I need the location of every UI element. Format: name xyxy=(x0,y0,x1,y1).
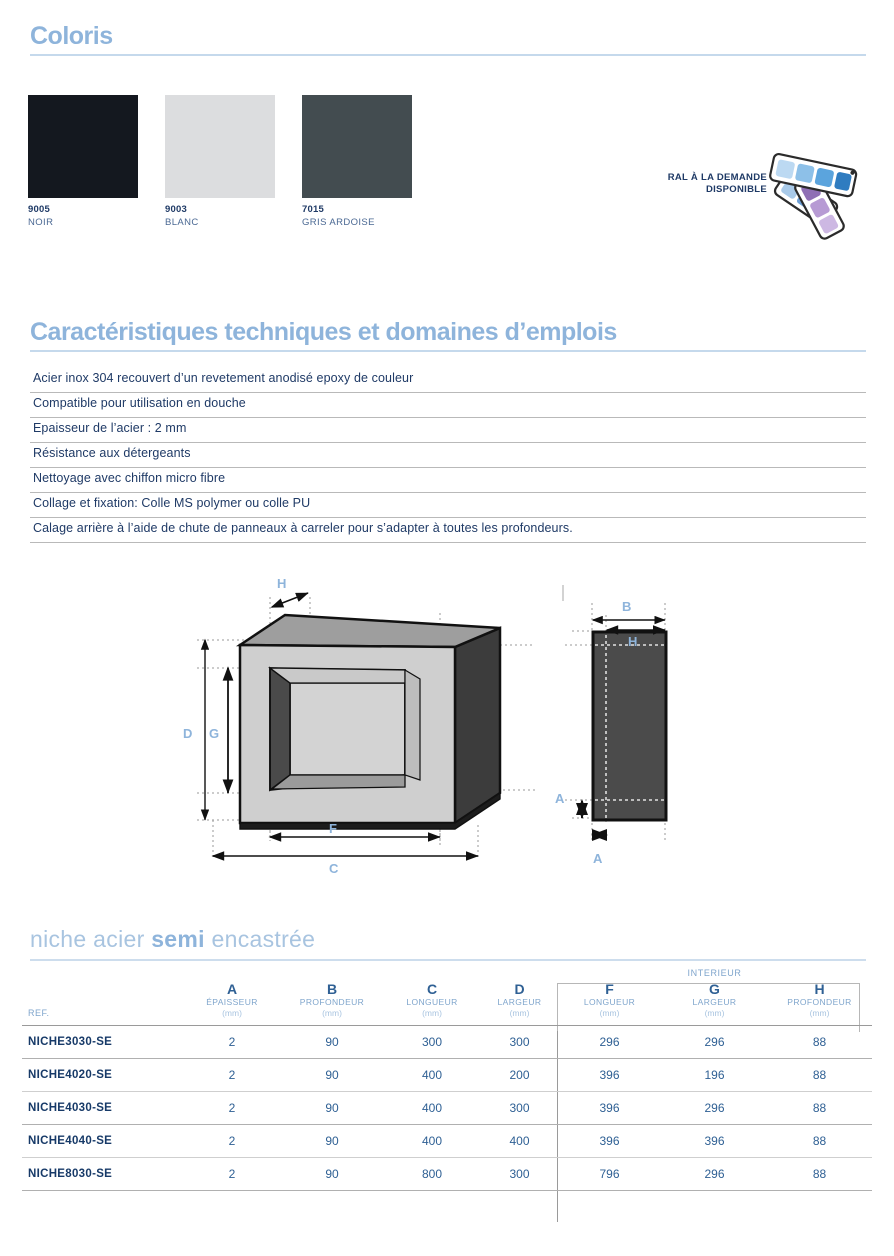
color-swatch-7015[interactable]: 7015 GRIS ARDOISE xyxy=(302,95,412,228)
cell-C: 400 xyxy=(382,1059,482,1092)
dim-line-H-iso xyxy=(272,593,308,607)
col-letter: H xyxy=(767,982,872,997)
dim-label-H-side: H xyxy=(628,634,637,649)
title-emphasis: semi xyxy=(151,926,205,952)
cell-D: 300 xyxy=(482,1158,557,1191)
table-header-row: REF. A ÉPAISSEUR (mm) B PROFONDEUR (mm) … xyxy=(22,982,872,1026)
column-header-A: A ÉPAISSEUR (mm) xyxy=(182,982,282,1026)
col-name: ÉPAISSEUR xyxy=(182,997,282,1008)
column-header-B: B PROFONDEUR (mm) xyxy=(282,982,382,1026)
col-letter: C xyxy=(382,982,482,997)
dim-label-H-iso: H xyxy=(277,576,286,591)
group-label-interieur: INTERIEUR xyxy=(557,968,872,982)
cell-B: 90 xyxy=(282,1125,382,1158)
list-item: Acier inox 304 recouvert d’un revetement… xyxy=(30,368,866,393)
cell-A: 2 xyxy=(182,1092,282,1125)
table-row[interactable]: NICHE4040-SE 2 90 400 400 396 396 88 xyxy=(22,1125,872,1158)
cell-G: 396 xyxy=(662,1125,767,1158)
cell-D: 300 xyxy=(482,1026,557,1059)
cell-G: 196 xyxy=(662,1059,767,1092)
cell-F: 296 xyxy=(557,1026,662,1059)
list-item: Résistance aux détergeants xyxy=(30,443,866,468)
caracteristiques-title: Caractéristiques techniques et domaines … xyxy=(30,318,866,347)
table-row[interactable]: NICHE4030-SE 2 90 400 300 396 296 88 xyxy=(22,1092,872,1125)
cell-H: 88 xyxy=(767,1125,872,1158)
col-unit: (mm) xyxy=(767,1008,872,1019)
dim-label-G: G xyxy=(209,726,219,741)
dim-label-A-left: A xyxy=(555,791,565,806)
cell-C: 400 xyxy=(382,1092,482,1125)
col-name: LONGUEUR xyxy=(557,997,662,1008)
col-letter: D xyxy=(482,982,557,997)
column-header-G: G LARGEUR (mm) xyxy=(662,982,767,1026)
swatch-name: GRIS ARDOISE xyxy=(302,217,412,228)
coloris-title: Coloris xyxy=(30,22,866,51)
ral-text: RAL À LA DEMANDE DISPONIBLE xyxy=(637,172,767,196)
table-row[interactable]: NICHE8030-SE 2 90 800 300 796 296 88 xyxy=(22,1158,872,1191)
cell-C: 300 xyxy=(382,1026,482,1059)
dim-label-D: D xyxy=(183,726,192,741)
datasheet-page: Coloris 9005 NOIR 9003 BLANC 7015 GRIS A… xyxy=(0,0,894,1256)
dim-label-B: B xyxy=(622,599,631,614)
swatch-name: NOIR xyxy=(28,217,138,228)
column-header-ref: REF. xyxy=(22,982,182,1026)
col-name: LARGEUR xyxy=(662,997,767,1008)
col-name: LONGUEUR xyxy=(382,997,482,1008)
col-name: PROFONDEUR xyxy=(282,997,382,1008)
cell-H: 88 xyxy=(767,1158,872,1191)
cell-F: 396 xyxy=(557,1059,662,1092)
table-row[interactable]: NICHE3030-SE 2 90 300 300 296 296 88 xyxy=(22,1026,872,1059)
col-unit: (mm) xyxy=(662,1008,767,1019)
list-item: Nettoyage avec chiffon micro fibre xyxy=(30,468,866,493)
dim-label-C: C xyxy=(329,861,339,876)
cell-B: 90 xyxy=(282,1059,382,1092)
swatch-code: 9003 xyxy=(165,204,275,215)
spec-table: INTERIEUR REF. A ÉPAISSEUR (mm) B PROFON… xyxy=(22,968,872,1191)
cell-G: 296 xyxy=(662,1158,767,1191)
cell-G: 296 xyxy=(662,1092,767,1125)
cell-G: 296 xyxy=(662,1026,767,1059)
col-unit: (mm) xyxy=(557,1008,662,1019)
col-unit: (mm) xyxy=(282,1008,382,1019)
cell-ref: NICHE4020-SE xyxy=(22,1059,182,1092)
cell-B: 90 xyxy=(282,1158,382,1191)
col-letter: G xyxy=(662,982,767,997)
cell-H: 88 xyxy=(767,1026,872,1059)
title-part-2: encastrée xyxy=(205,926,315,952)
ral-line-1: RAL À LA DEMANDE xyxy=(637,172,767,184)
column-header-C: C LONGUEUR (mm) xyxy=(382,982,482,1026)
dim-label-F: F xyxy=(329,821,337,836)
isometric-view: H D G F C xyxy=(183,576,535,876)
cell-C: 800 xyxy=(382,1158,482,1191)
cell-F: 396 xyxy=(557,1125,662,1158)
product-divider xyxy=(30,959,866,961)
swatch-code: 9005 xyxy=(28,204,138,215)
title-part-1: niche acier xyxy=(30,926,151,952)
list-item: Collage et fixation: Colle MS polymer ou… xyxy=(30,493,866,518)
col-letter: B xyxy=(282,982,382,997)
swatch-code: 7015 xyxy=(302,204,412,215)
swatch-chip xyxy=(28,95,138,198)
list-item: Calage arrière à l’aide de chute de pann… xyxy=(30,518,866,543)
technical-drawing: H D G F C xyxy=(0,575,894,905)
feature-list: Acier inox 304 recouvert d’un revetement… xyxy=(30,368,866,543)
list-item: Epaisseur de l’acier : 2 mm xyxy=(30,418,866,443)
cell-C: 400 xyxy=(382,1125,482,1158)
color-fan-icon xyxy=(763,146,875,254)
cell-D: 300 xyxy=(482,1092,557,1125)
product-heading: niche acier semi encastrée xyxy=(30,926,866,961)
swatch-name: BLANC xyxy=(165,217,275,228)
caracteristiques-divider xyxy=(30,350,866,352)
swatch-chip xyxy=(302,95,412,198)
col-name: PROFONDEUR xyxy=(767,997,872,1008)
cell-A: 2 xyxy=(182,1059,282,1092)
cell-B: 90 xyxy=(282,1092,382,1125)
ral-on-demand-block: RAL À LA DEMANDE DISPONIBLE xyxy=(655,168,875,248)
side-view-body xyxy=(593,632,666,820)
col-unit: (mm) xyxy=(382,1008,482,1019)
cell-A: 2 xyxy=(182,1026,282,1059)
cell-ref: NICHE4030-SE xyxy=(22,1092,182,1125)
cell-H: 88 xyxy=(767,1059,872,1092)
table-row[interactable]: NICHE4020-SE 2 90 400 200 396 196 88 xyxy=(22,1059,872,1092)
col-name: LARGEUR xyxy=(482,997,557,1008)
cell-D: 400 xyxy=(482,1125,557,1158)
column-header-F: F LONGUEUR (mm) xyxy=(557,982,662,1026)
dim-label-A-bottom: A xyxy=(593,851,603,866)
color-swatch-9005[interactable]: 9005 NOIR xyxy=(28,95,138,228)
cell-A: 2 xyxy=(182,1158,282,1191)
column-header-H: H PROFONDEUR (mm) xyxy=(767,982,872,1026)
col-unit: (mm) xyxy=(182,1008,282,1019)
cell-A: 2 xyxy=(182,1125,282,1158)
page-title: niche acier semi encastrée xyxy=(30,926,866,953)
list-item: Compatible pour utilisation en douche xyxy=(30,393,866,418)
section-heading-caracteristiques: Caractéristiques techniques et domaines … xyxy=(30,318,866,352)
side-view: B H A A xyxy=(555,585,666,866)
swatch-chip xyxy=(165,95,275,198)
section-heading-coloris: Coloris xyxy=(30,22,866,56)
cell-H: 88 xyxy=(767,1092,872,1125)
column-header-D: D LARGEUR (mm) xyxy=(482,982,557,1026)
coloris-divider xyxy=(30,54,866,56)
cell-F: 396 xyxy=(557,1092,662,1125)
col-letter: A xyxy=(182,982,282,997)
table-group-row: INTERIEUR xyxy=(22,968,872,982)
cell-ref: NICHE8030-SE xyxy=(22,1158,182,1191)
cell-B: 90 xyxy=(282,1026,382,1059)
cell-ref: NICHE4040-SE xyxy=(22,1125,182,1158)
cell-ref: NICHE3030-SE xyxy=(22,1026,182,1059)
col-letter: F xyxy=(557,982,662,997)
cell-D: 200 xyxy=(482,1059,557,1092)
color-swatch-9003[interactable]: 9003 BLANC xyxy=(165,95,275,228)
cell-F: 796 xyxy=(557,1158,662,1191)
col-unit: (mm) xyxy=(482,1008,557,1019)
ral-line-2: DISPONIBLE xyxy=(637,184,767,196)
